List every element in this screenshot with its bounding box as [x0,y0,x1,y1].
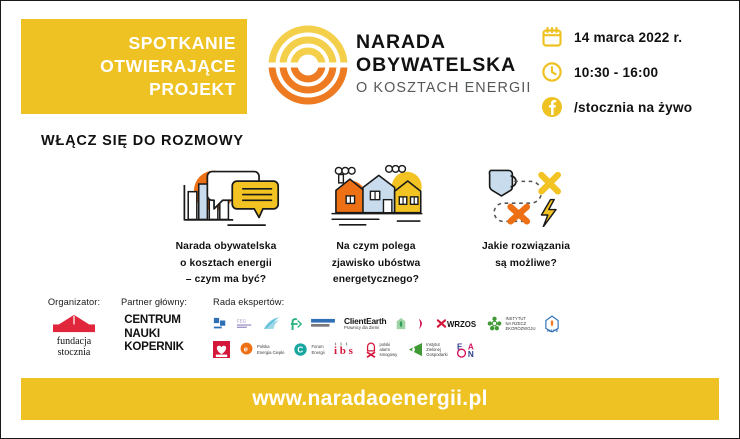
calendar-icon [541,26,563,48]
organizer-block: Organizator: fundacjastocznia [21,297,109,358]
houses-smoke-illustration [321,161,431,229]
instytut-zielonej-gospodarki-label: InstytutZielonejGospodarki [426,342,447,358]
topics-list: Narada obywatelskao kosztach energii– cz… [151,161,601,289]
kape-logo: KAPE [545,313,559,334]
topic-card-3: Jakie rozwiązaniasą możliwe? [451,161,601,272]
svg-text:WRZOS: WRZOS [447,320,476,329]
badge-line-3: PROJEKT [149,78,236,101]
main-partner-label: Partner główny: [109,297,199,307]
svg-text:C: C [298,346,304,355]
expert-logo-row-2: e PolskaEnergia Ciepło C ForumEnergii [213,339,719,360]
concentric-arcs-logo [267,23,349,107]
info-row-date: 14 marca 2022 r. [541,25,692,49]
clientearth-tagline: Prawnicy dla Ziemi [344,325,386,330]
shield-path-lightning-illustration [476,161,576,229]
info-row-time: 10:30 - 16:00 [541,60,692,84]
clientearth-logo: ClientEarth Prawnicy dla Ziemi [344,313,386,334]
svg-text:i b s: i b s [334,345,354,357]
svg-text:N: N [468,350,474,358]
main-partner-name: CENTRUMNAUKIKOPERNIK [124,313,184,354]
chart-speech-bubbles-illustration [170,161,283,229]
website-url[interactable]: www.naradaoenergii.pl [252,387,487,411]
clock-icon [541,61,563,83]
website-bar[interactable]: www.naradaoenergii.pl [21,378,719,420]
expert-logo-row-1: FEG [213,313,719,334]
brand-title: NARADA OBYWATELSKA O KOSZTACH ENERGII [356,31,531,96]
svg-text:e: e [244,345,248,354]
topic-card-1: Narada obywatelskao kosztach energii– cz… [151,161,301,289]
main-partner-block: Partner główny: CENTRUMNAUKIKOPERNIK [109,297,199,355]
organizer-name: fundacjastocznia [57,336,91,358]
fundacja-wwf-logo [263,313,281,334]
experts-block: Rada ekspertów: FEG [199,297,719,360]
organizer-label: Organizator: [39,297,109,307]
ean-logo: E A N [457,339,477,360]
fk-fala-logo [290,313,302,334]
poster-root: SPOTKANIE OTWIERAJĄCE PROJEKT [0,0,740,439]
clientearth-wordmark: ClientEarth [344,317,386,325]
brand-line-2: OBYWATELSKA [356,54,531,77]
brand-line-3: O KOSZTACH ENERGII [356,80,531,96]
section-heading: WŁĄCZ SIĘ DO ROZMOWY [41,133,244,149]
topic-caption-2: Na czym polegazjawisko ubóstwaenergetycz… [332,239,421,289]
polski-alarm-smogowy-label: polskialarmsmogowy [380,342,398,358]
ibs-logo: i b s [334,339,356,360]
fundacja-stocznia-logo: fundacjastocznia [39,313,109,358]
polski-alarm-smogowy-logo: polskialarmsmogowy [365,339,398,360]
partners-section: Organizator: fundacjastocznia Partner gł… [21,297,719,360]
expert-logo-grid: FEG [213,313,719,360]
feg-logo: FEG [236,313,254,334]
event-info-list: 14 marca 2022 r. 10:30 - 16:00 /stocznia… [541,25,692,119]
ibris-logo [213,313,227,334]
badge-line-1: SPOTKANIE [129,32,237,55]
instytut-ekorozwoju-logo: INSTYTUTNA RZECZEKOROZWOJU [487,313,535,334]
event-time: 10:30 - 16:00 [574,65,658,80]
event-badge: SPOTKANIE OTWIERAJĄCE PROJEKT [21,19,247,114]
experts-label: Rada ekspertów: [213,297,719,307]
svg-text:FEG: FEG [237,319,247,324]
polska-zielona-siec-logo [416,313,427,334]
topic-card-2: Na czym polegazjawisko ubóstwaenergetycz… [301,161,451,289]
brand-line-1: NARADA [356,31,531,54]
instytut-ekorozwoju-label: INSTYTUTNA RZECZEKOROZWOJU [505,316,535,332]
topic-caption-3: Jakie rozwiązaniasą możliwe? [482,239,570,272]
svg-text:KAPE: KAPE [547,328,558,333]
facebook-icon[interactable] [541,96,563,118]
badge-line-2: OTWIERAJĄCE [100,55,236,78]
event-date: 14 marca 2022 r. [574,30,682,45]
instytut-zielonej-gospodarki-logo: InstytutZielonejGospodarki [406,339,447,360]
facebook-handle[interactable]: /stocznia na żywo [574,100,692,115]
forum-energii-label: ForumEnergii [311,344,324,355]
wrzos-logo: WRZOS [436,313,478,334]
info-row-facebook[interactable]: /stocznia na żywo [541,95,692,119]
nowa-energia-logo [311,313,335,334]
fala-renowacji-logo [395,313,407,334]
polska-energia-cieplo-logo: e PolskaEnergia Ciepło [239,339,284,360]
forum-energii-logo: C ForumEnergii [293,339,324,360]
topic-caption-1: Narada obywatelskao kosztach energii– cz… [176,239,277,289]
polska-energia-cieplo-label: PolskaEnergia Ciepło [257,344,284,355]
pkps-logo [213,339,230,360]
